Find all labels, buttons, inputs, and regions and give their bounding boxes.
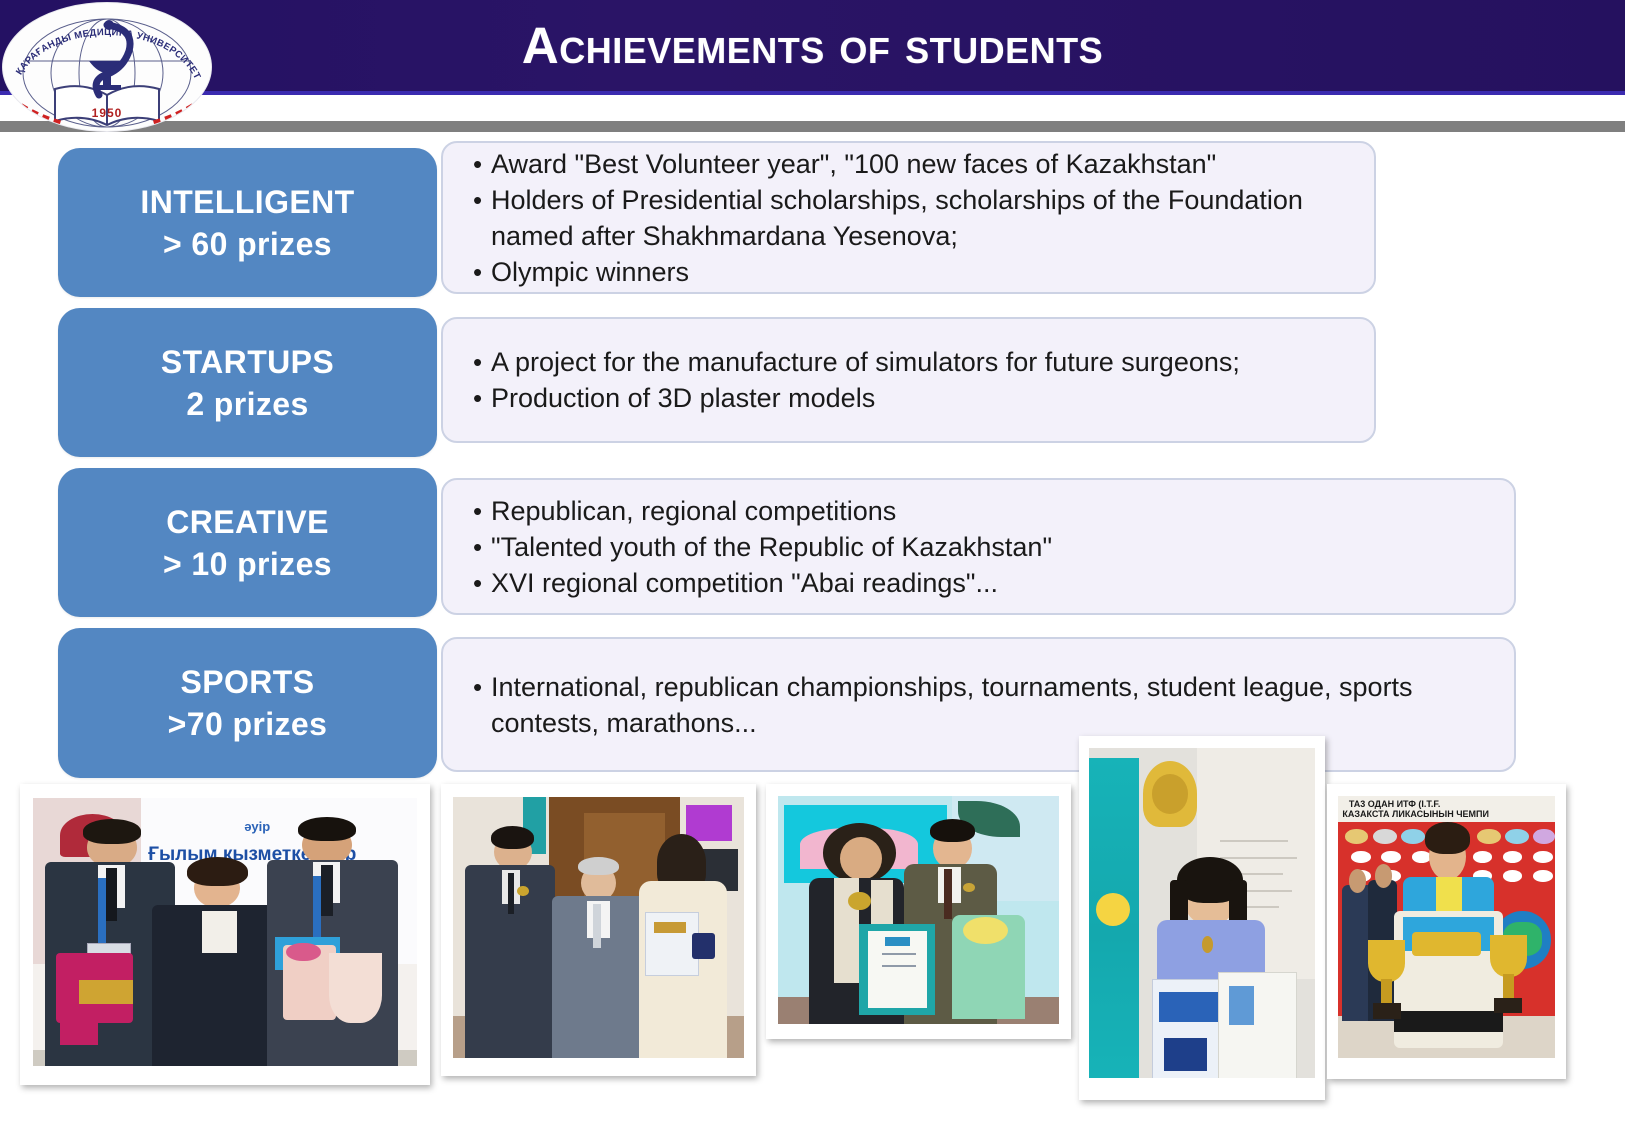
category-content-sports: • International, republican championship…: [441, 637, 1516, 772]
bullet-text: "Talented youth of the Republic of Kazak…: [491, 529, 1496, 565]
header-gray-divider: [0, 121, 1625, 132]
bullet-item: • International, republican championship…: [473, 669, 1496, 741]
bullet-item: • Republican, regional competitions: [473, 493, 1496, 529]
category-label-line2: >70 prizes: [168, 703, 328, 745]
university-logo: ҚАРАҒАНДЫ МЕДИЦИНА УНИВЕРСИТЕТІ 1950: [2, 0, 212, 132]
bullet-dot-icon: •: [473, 380, 491, 416]
bullet-text: Republican, regional competitions: [491, 493, 1496, 529]
category-label-line1: INTELLIGENT: [140, 181, 354, 223]
category-label-line1: SPORTS: [181, 661, 315, 703]
bullet-item: • XVI regional competition "Abai reading…: [473, 565, 1496, 601]
bullet-item: • Production of 3D plaster models: [473, 380, 1356, 416]
photo-taekwondo-champion-trophies: ТА3 ОДАН ИТФ (I.T.F. КАЗАКСТА ЛИКАСЫНЫН …: [1327, 784, 1566, 1079]
bullet-text: XVI regional competition "Abai readings"…: [491, 565, 1496, 601]
logo-year: 1950: [3, 106, 211, 120]
category-label-creative[interactable]: CREATIVE > 10 prizes: [58, 468, 437, 617]
bullet-text: A project for the manufacture of simulat…: [491, 344, 1356, 380]
bullet-dot-icon: •: [473, 254, 491, 290]
photo-banner-title-line1: ТА3 ОДАН ИТФ (I.T.F.: [1349, 799, 1441, 809]
bullet-item: • A project for the manufacture of simul…: [473, 344, 1356, 380]
bullet-text: International, republican championships,…: [491, 669, 1496, 741]
bullet-dot-icon: •: [473, 529, 491, 565]
photo-banner-text-top: әуір: [244, 819, 270, 834]
category-label-line1: STARTUPS: [161, 341, 334, 383]
bullet-dot-icon: •: [473, 146, 491, 182]
logo-ellipse: ҚАРАҒАНДЫ МЕДИЦИНА УНИВЕРСИТЕТІ 1950: [2, 2, 212, 132]
bullet-text: Award "Best Volunteer year", "100 new fa…: [491, 146, 1356, 182]
photo-parliament-award-diploma: [441, 784, 756, 1076]
bullet-dot-icon: •: [473, 182, 491, 218]
category-content-startups: • A project for the manufacture of simul…: [441, 317, 1376, 443]
category-label-intelligent[interactable]: INTELLIGENT > 60 prizes: [58, 148, 437, 297]
page-title: Achievements of students: [0, 14, 1625, 78]
bullet-item: • Olympic winners: [473, 254, 1356, 290]
bullet-text: Holders of Presidential scholarships, sc…: [491, 182, 1356, 254]
bullet-dot-icon: •: [473, 344, 491, 380]
bullet-item: • Holders of Presidential scholarships, …: [473, 182, 1356, 254]
bullet-text: Production of 3D plaster models: [491, 380, 1356, 416]
photo-banner-title-line2: КАЗАКСТА ЛИКАСЫНЫН ЧЕМПИ: [1342, 809, 1489, 819]
category-label-line2: > 60 prizes: [163, 223, 332, 265]
photo-award-ceremony-science-workers: медицина университеті әуір Ғылым қызметк…: [20, 784, 430, 1085]
photo-certificate-presentation: [766, 784, 1071, 1039]
category-content-intelligent: • Award "Best Volunteer year", "100 new …: [441, 141, 1376, 294]
photo-student-with-flag-and-diplomas: [1079, 736, 1325, 1100]
bullet-item: • Award "Best Volunteer year", "100 new …: [473, 146, 1356, 182]
category-label-sports[interactable]: SPORTS >70 prizes: [58, 628, 437, 778]
bullet-dot-icon: •: [473, 493, 491, 529]
category-label-line1: CREATIVE: [166, 501, 329, 543]
bullet-dot-icon: •: [473, 565, 491, 601]
bullet-item: • "Talented youth of the Republic of Kaz…: [473, 529, 1496, 565]
bullet-text: Olympic winners: [491, 254, 1356, 290]
category-label-line2: 2 prizes: [186, 383, 308, 425]
category-label-line2: > 10 prizes: [163, 543, 332, 585]
category-content-creative: • Republican, regional competitions • "T…: [441, 478, 1516, 615]
category-label-startups[interactable]: STARTUPS 2 prizes: [58, 308, 437, 457]
bullet-dot-icon: •: [473, 669, 491, 705]
header-underline: [0, 91, 1625, 95]
